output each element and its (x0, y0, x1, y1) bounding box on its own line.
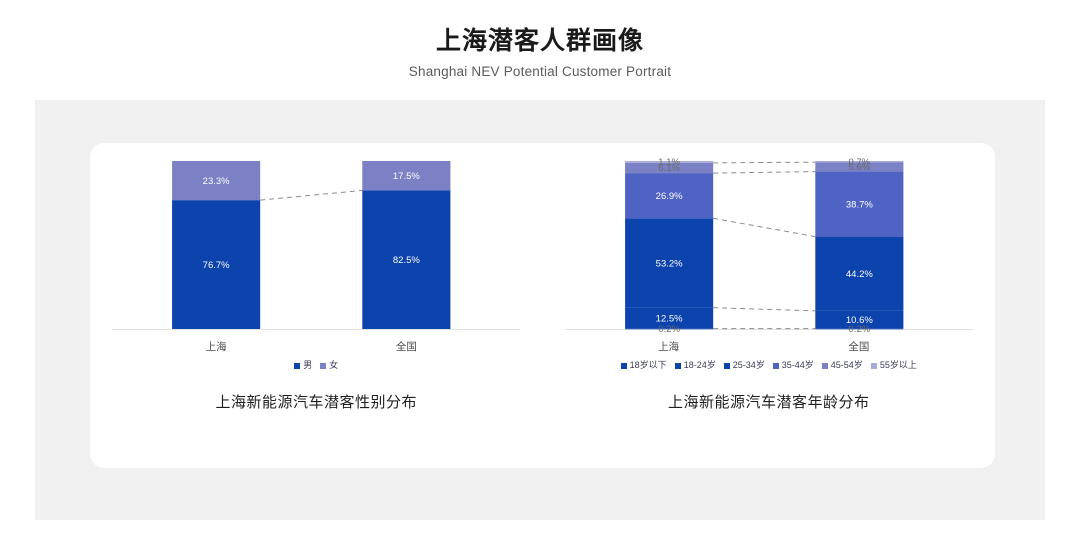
legend-swatch-icon (621, 363, 627, 369)
legend-label: 55岁以上 (880, 361, 917, 370)
bar-segment-label: 0.2% (658, 324, 680, 335)
page-title: 上海潜客人群画像 (0, 0, 1080, 57)
bar-segment-label: 10.6% (845, 315, 873, 326)
legend-item[interactable]: 35-44岁 (773, 361, 814, 370)
legend-swatch-icon (320, 363, 326, 369)
x-axis-category-label: 全国 (396, 339, 417, 354)
gender-chart-caption: 上海新能源汽车潜客性别分布 (90, 391, 543, 412)
legend-label: 18-24岁 (684, 361, 716, 370)
bar-segment-label: 0.7% (848, 157, 870, 168)
bar-segment-label: 17.5% (393, 171, 421, 182)
legend-item[interactable]: 18-24岁 (675, 361, 716, 370)
legend-label: 45-54岁 (831, 361, 863, 370)
bar-segment-label: 38.7% (845, 199, 873, 210)
legend-label: 女 (329, 361, 338, 370)
page-subtitle: Shanghai NEV Potential Customer Portrait (0, 57, 1080, 79)
legend-swatch-icon (294, 363, 300, 369)
x-axis-category-label: 全国 (848, 339, 869, 354)
legend-swatch-icon (773, 363, 779, 369)
age-axis-labels: 上海全国 (543, 339, 996, 357)
page-header: 上海潜客人群画像 Shanghai NEV Potential Customer… (0, 0, 1080, 79)
age-chart-plot: 0.2%12.5%53.2%26.9%6.1%1.1%0.2%10.6%44.2… (543, 143, 996, 343)
legend-label: 25-34岁 (733, 361, 765, 370)
bar-segment-label: 44.2% (845, 269, 873, 280)
bar-segment-label: 53.2% (655, 258, 683, 269)
bar-segment-label: 1.1% (658, 157, 680, 168)
charts-row: 76.7%23.3%82.5%17.5% 上海全国 男女 上海新能源汽车潜客性别… (90, 143, 995, 468)
gender-axis-labels: 上海全国 (90, 339, 543, 357)
legend-swatch-icon (822, 363, 828, 369)
chart-age: 0.2%12.5%53.2%26.9%6.1%1.1%0.2%10.6%44.2… (543, 143, 996, 468)
legend-item[interactable]: 45-54岁 (822, 361, 863, 370)
x-axis-category-label: 上海 (658, 339, 679, 354)
legend-label: 男 (303, 361, 312, 370)
bar-segment-label: 12.5% (655, 314, 683, 325)
legend-item[interactable]: 女 (320, 361, 338, 370)
age-chart-caption: 上海新能源汽车潜客年龄分布 (543, 391, 996, 412)
legend-swatch-icon (675, 363, 681, 369)
age-legend: 18岁以下18-24岁25-34岁35-44岁45-54岁55岁以上 (543, 361, 996, 370)
legend-item[interactable]: 男 (294, 361, 312, 370)
x-axis-category-label: 上海 (206, 339, 227, 354)
legend-label: 35-44岁 (782, 361, 814, 370)
gender-chart-plot: 76.7%23.3%82.5%17.5% (90, 143, 543, 343)
gender-chart-svg: 76.7%23.3%82.5%17.5% (90, 143, 543, 343)
legend-item[interactable]: 18岁以下 (621, 361, 667, 370)
bar-segment-label: 82.5% (393, 255, 421, 266)
bar-segment-label: 26.9% (655, 191, 683, 202)
legend-swatch-icon (724, 363, 730, 369)
legend-label: 18岁以下 (630, 361, 667, 370)
age-chart-svg: 0.2%12.5%53.2%26.9%6.1%1.1%0.2%10.6%44.2… (543, 143, 996, 343)
bar-segment-label: 76.7% (203, 260, 231, 271)
legend-item[interactable]: 25-34岁 (724, 361, 765, 370)
legend-swatch-icon (871, 363, 877, 369)
gender-legend: 男女 (90, 361, 543, 370)
legend-item[interactable]: 55岁以上 (871, 361, 917, 370)
bar-segment-label: 23.3% (203, 176, 231, 187)
chart-gender: 76.7%23.3%82.5%17.5% 上海全国 男女 上海新能源汽车潜客性别… (90, 143, 543, 468)
